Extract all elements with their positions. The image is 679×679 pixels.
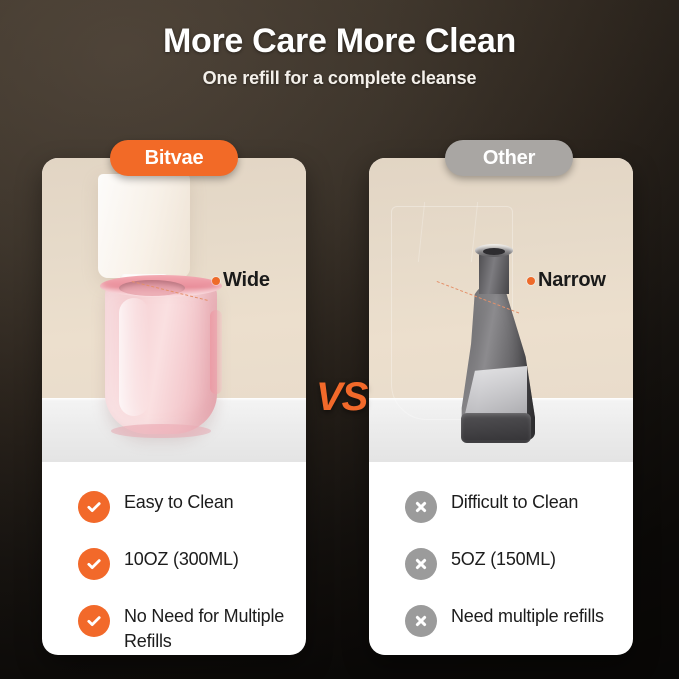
brand-badge-other: Other [445,140,573,176]
callout-label: Wide [223,269,270,292]
dark-tank-graphic [457,250,535,440]
tank-opening-narrow [483,248,505,255]
check-icon [78,548,110,580]
list-item: 5OZ (150ML) [405,547,633,580]
callout-narrow: Narrow [527,269,606,292]
list-item: No Need for Multiple Refills [78,604,306,654]
feature-list-other: Difficult to Clean 5OZ (150ML) Need mult… [369,462,633,637]
product-photo-bitvae [42,158,306,462]
list-item-label: Easy to Clean [124,490,233,515]
pink-tank-graphic [105,284,217,434]
page-subtitle: One refill for a complete cleanse [0,68,679,89]
list-item: Need multiple refills [405,604,633,637]
vs-divider: VS [316,375,367,420]
comparison-card-other: Difficult to Clean 5OZ (150ML) Need mult… [369,158,633,655]
list-item-label: No Need for Multiple Refills [124,604,292,654]
tank-base [111,424,211,438]
list-item: Difficult to Clean [405,490,633,523]
callout-label: Narrow [538,269,606,292]
callout-dot-icon [527,277,535,285]
list-item: 10OZ (300ML) [78,547,306,580]
tank-handle [210,310,222,394]
tank-base [461,413,531,443]
list-item-label: 10OZ (300ML) [124,547,239,572]
feature-list-bitvae: Easy to Clean 10OZ (300ML) No Need for M… [42,462,306,654]
check-icon [78,605,110,637]
list-item-label: Difficult to Clean [451,490,578,515]
tank-highlight [119,298,149,416]
list-item-label: Need multiple refills [451,604,604,629]
brand-badge-bitvae: Bitvae [110,140,238,176]
page-title: More Care More Clean [0,22,679,61]
cross-icon [405,548,437,580]
faucet-graphic [98,174,190,278]
check-icon [78,491,110,523]
cross-icon [405,491,437,523]
infographic-root: More Care More Clean One refill for a co… [0,0,679,679]
comparison-card-bitvae: Easy to Clean 10OZ (300ML) No Need for M… [42,158,306,655]
cross-icon [405,605,437,637]
product-photo-other [369,158,633,462]
callout-wide: Wide [212,269,270,292]
list-item: Easy to Clean [78,490,306,523]
list-item-label: 5OZ (150ML) [451,547,556,572]
callout-dot-icon [212,277,220,285]
